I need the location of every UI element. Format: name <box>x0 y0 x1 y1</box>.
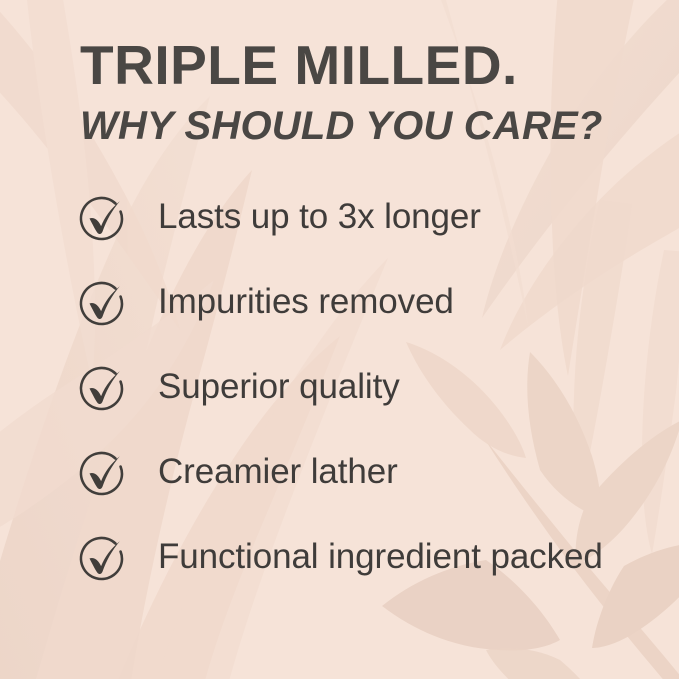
poster-content: TRIPLE MILLED. WHY SHOULD YOU CARE? Last… <box>0 0 679 679</box>
circle-check-icon <box>74 446 130 502</box>
list-item: Functional ingredient packed <box>74 530 634 615</box>
circle-check-icon <box>74 531 130 587</box>
list-item: Superior quality <box>74 360 634 445</box>
list-item: Creamier lather <box>74 445 634 530</box>
circle-check-icon <box>74 361 130 417</box>
page-subtitle: WHY SHOULD YOU CARE? <box>80 106 603 146</box>
benefits-list: Lasts up to 3x longer Impurities removed… <box>74 190 634 615</box>
list-item: Lasts up to 3x longer <box>74 190 634 275</box>
page-title: TRIPLE MILLED. <box>80 38 518 93</box>
list-item-label: Creamier lather <box>158 445 398 494</box>
list-item-label: Lasts up to 3x longer <box>158 190 481 239</box>
list-item-label: Functional ingredient packed <box>158 530 603 579</box>
list-item-label: Superior quality <box>158 360 400 409</box>
list-item-label: Impurities removed <box>158 275 454 324</box>
list-item: Impurities removed <box>74 275 634 360</box>
circle-check-icon <box>74 191 130 247</box>
circle-check-icon <box>74 276 130 332</box>
triple-milled-poster: TRIPLE MILLED. WHY SHOULD YOU CARE? Last… <box>0 0 679 679</box>
